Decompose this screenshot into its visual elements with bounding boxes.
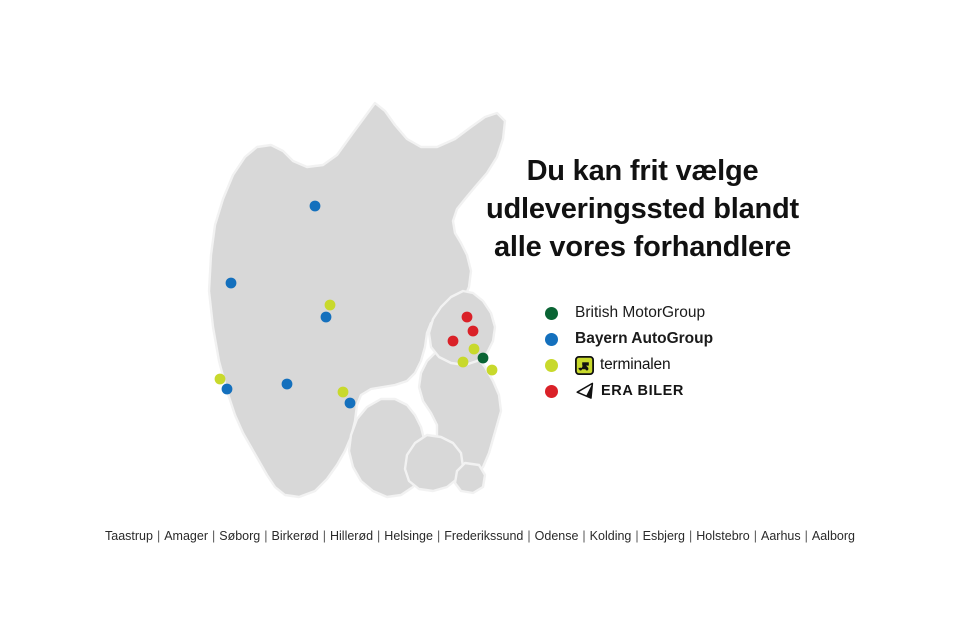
city-name: Hillerød [330,529,373,543]
city-name: Odense [535,529,579,543]
marker-aarhus-lime[interactable] [325,300,336,311]
poster-canvas: Du kan frit vælge udleveringssted blandt… [0,0,960,640]
era-biler-triangle-icon [575,382,595,400]
city-separator: | [373,529,384,543]
city-name: Aalborg [812,529,855,543]
legend-dot-icon-bayern [545,333,558,346]
marker-esbjerg-lime[interactable] [215,374,226,385]
marker-amager[interactable] [487,365,498,376]
legend-dot-icon-era [545,385,558,398]
legend-item-bayern-autogroup[interactable]: Bayern AutoGroup [545,326,805,352]
city-separator: | [208,529,219,543]
city-separator: | [631,529,642,543]
city-name: Birkerød [272,529,319,543]
era-biler-wordmark: ERA BILER [601,383,684,399]
legend-dot-icon-british [545,307,558,320]
city-name: Frederikssund [444,529,523,543]
page-title: Du kan frit vælge udleveringssted blandt… [470,152,815,266]
marker-taastrup[interactable] [478,353,489,364]
marker-kolding[interactable] [282,379,293,390]
city-separator: | [260,529,271,543]
marker-birkerod[interactable] [469,344,480,355]
city-separator: | [801,529,812,543]
city-name: Holstebro [696,529,750,543]
denmark-map [175,95,520,505]
legend-item-british-motorgroup[interactable]: British MotorGroup [545,300,805,326]
legend: British MotorGroup Bayern AutoGroup term… [545,300,805,404]
legend-label-british-motorgroup: British MotorGroup [575,304,705,322]
city-separator: | [750,529,761,543]
headline-line-2: udleveringssted blandt [470,190,815,228]
city-list: Taastrup|Amager|Søborg|Birkerød|Hillerød… [0,529,960,543]
city-separator: | [523,529,534,543]
city-separator: | [685,529,696,543]
legend-item-era-biler[interactable]: ERA BILER [545,378,805,404]
legend-dot-icon-terminalen [545,359,558,372]
city-name: Taastrup [105,529,153,543]
marker-odense-blue[interactable] [345,398,356,409]
city-separator: | [433,529,444,543]
marker-helsinge[interactable] [462,312,473,323]
terminalen-logo-icon [575,356,594,375]
city-separator: | [153,529,164,543]
city-name: Aarhus [761,529,801,543]
marker-holstebro[interactable] [226,278,237,289]
legend-item-terminalen[interactable]: terminalen [545,352,805,378]
map-svg [175,95,520,505]
city-name: Esbjerg [643,529,685,543]
era-biler-logo: ERA BILER [575,382,684,400]
city-name: Amager [164,529,208,543]
map-region-mon [455,463,485,493]
headline-line-1: Du kan frit vælge [470,152,815,190]
marker-frederikssund[interactable] [448,336,459,347]
city-name: Helsinge [384,529,433,543]
terminalen-wordmark: terminalen [600,356,670,374]
marker-aarhus-blue[interactable] [321,312,332,323]
marker-hillerod[interactable] [468,326,479,337]
marker-odense-lime[interactable] [338,387,349,398]
terminalen-logo: terminalen [575,356,670,375]
legend-label-bayern-autogroup: Bayern AutoGroup [575,330,713,348]
city-separator: | [319,529,330,543]
city-separator: | [578,529,589,543]
marker-esbjerg-blue[interactable] [222,384,233,395]
city-name: Søborg [219,529,260,543]
headline-line-3: alle vores forhandlere [470,228,815,266]
marker-aalborg[interactable] [310,201,321,212]
city-name: Kolding [590,529,632,543]
marker-soborg[interactable] [458,357,469,368]
